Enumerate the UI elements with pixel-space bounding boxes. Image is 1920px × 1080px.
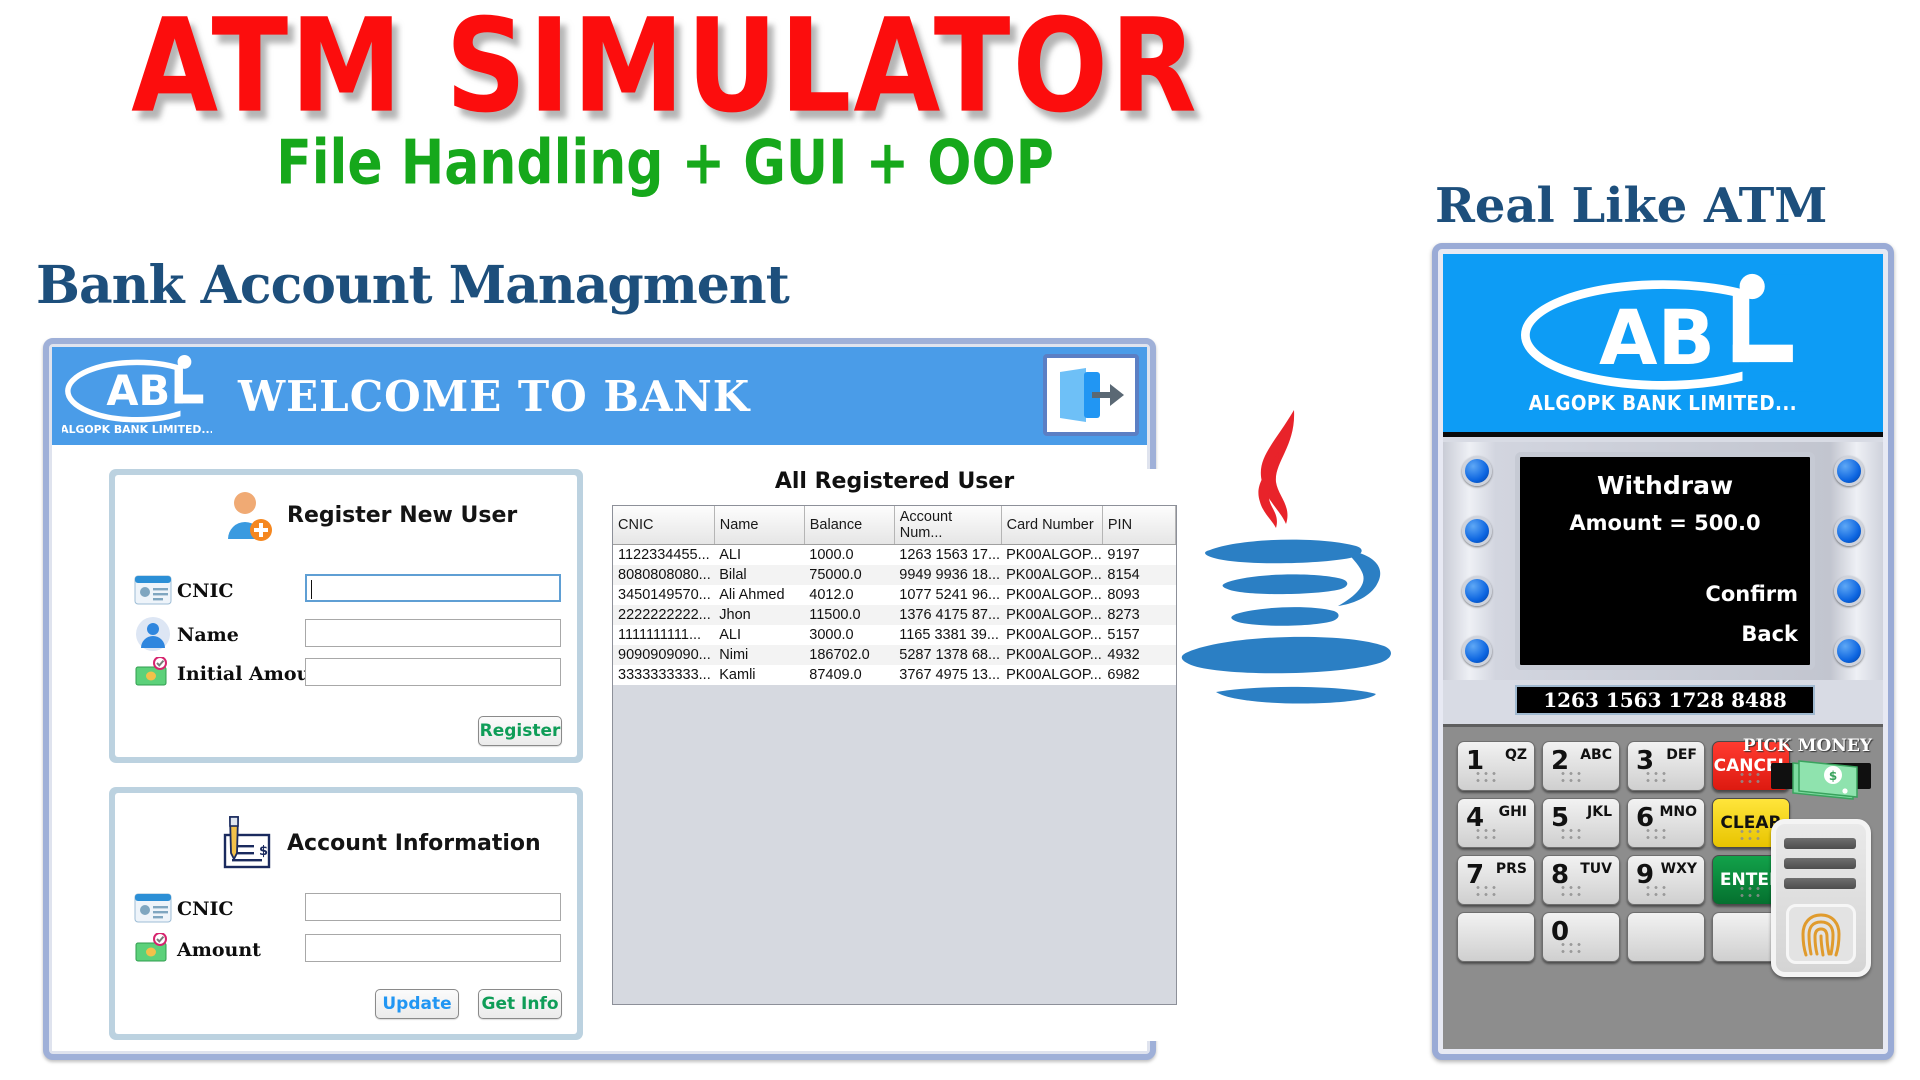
table-body: 1122334455...ALI1000.01263 1563 17...PK0… <box>613 545 1176 686</box>
keypad-letters: ABC <box>1580 747 1612 763</box>
table-row[interactable]: 3450149570...Ali Ahmed4012.01077 5241 96… <box>613 585 1176 605</box>
field-label-name: Name <box>177 624 239 646</box>
table-row[interactable]: 1111111111...ALI3000.01165 3381 39...PK0… <box>613 625 1176 645</box>
table-cell: 9949 9936 18... <box>894 565 1001 585</box>
atm-side-button-right-3[interactable] <box>1834 576 1864 606</box>
account-cnic-input[interactable] <box>305 893 561 921</box>
table-column-header-5[interactable]: PIN <box>1102 506 1175 545</box>
atm-side-button-right-2[interactable] <box>1834 516 1864 546</box>
table-cell: 8273 <box>1102 605 1175 625</box>
register-initial-amount-input[interactable] <box>305 658 561 686</box>
table-cell: 11500.0 <box>804 605 894 625</box>
account-panel-title: Account Information <box>287 831 541 856</box>
keypad-key-4[interactable]: 4GHI <box>1457 798 1535 848</box>
braille-dots <box>1738 771 1764 785</box>
braille-dots <box>1559 941 1585 955</box>
table-cell: 1111111111... <box>613 625 714 645</box>
cash-bills-icon[interactable]: $ <box>1771 759 1871 803</box>
braille-dots <box>1474 827 1500 841</box>
get-info-button[interactable]: Get Info <box>478 989 562 1019</box>
table-cell: 5157 <box>1102 625 1175 645</box>
table-cell: 1263 1563 17... <box>894 545 1001 566</box>
keypad-letters: WXY <box>1661 861 1697 877</box>
braille-dots <box>1559 827 1585 841</box>
account-amount-input[interactable] <box>305 934 561 962</box>
table-cell: 3000.0 <box>804 625 894 645</box>
keypad-key-5[interactable]: 5JKL <box>1542 798 1620 848</box>
atm-side-buttons-left <box>1457 456 1497 666</box>
table-cell: 3450149570... <box>613 585 714 605</box>
keypad-blank-key[interactable] <box>1627 912 1705 962</box>
cheque-icon: $ <box>213 813 275 873</box>
keypad-letters: PRS <box>1496 861 1527 877</box>
atm-brand-subtitle: ALGOPK BANK LIMITED... <box>1529 391 1797 415</box>
table-cell: Jhon <box>714 605 804 625</box>
atm-brand-panel: AB ALGOPK BANK LIMITED... <box>1443 254 1883 437</box>
bank-section-heading: Bank Account Managment <box>36 255 789 316</box>
registered-users-section: All Registered User CNICNameBalanceAccou… <box>612 469 1177 1041</box>
table-cell: 1122334455... <box>613 545 714 566</box>
bank-window-title: WELCOME TO BANK <box>238 372 750 421</box>
field-label-amount: Amount <box>177 939 261 961</box>
cash-dispenser[interactable] <box>1771 819 1871 977</box>
table-cell: 3767 4975 13... <box>894 665 1001 685</box>
atm-screen-zone: Withdraw Amount = 500.0 Confirm Back <box>1443 442 1883 680</box>
svg-text:$: $ <box>1829 769 1837 783</box>
braille-dots <box>1644 884 1670 898</box>
table-column-header-3[interactable]: Account Num... <box>894 506 1001 545</box>
table-column-header-4[interactable]: Card Number <box>1001 506 1102 545</box>
atm-keypad: 1QZ2ABC3DEFCANCEL4GHI5JKL6MNOCLEAR7PRS8T… <box>1457 741 1790 962</box>
table-cell: ALI <box>714 625 804 645</box>
atm-back-option[interactable]: Back <box>1741 622 1798 646</box>
svg-text:AB: AB <box>106 366 170 415</box>
braille-dots <box>1644 770 1670 784</box>
users-table-scroll[interactable]: CNICNameBalanceAccount Num...Card Number… <box>612 505 1177 1005</box>
atm-side-button-left-2[interactable] <box>1462 516 1492 546</box>
update-button[interactable]: Update <box>375 989 459 1019</box>
atm-section-heading: Real Like ATM <box>1435 178 1827 234</box>
id-card-icon <box>134 893 172 923</box>
table-cell: PK00ALGOP... <box>1001 565 1102 585</box>
braille-dots <box>1474 884 1500 898</box>
keypad-key-1[interactable]: 1QZ <box>1457 741 1535 791</box>
table-cell: PK00ALGOP... <box>1001 545 1102 566</box>
atm-side-button-left-3[interactable] <box>1462 576 1492 606</box>
bank-window-header: AB ALGOPK BANK LIMITED... WELCOME TO BAN… <box>52 347 1147 445</box>
table-cell: 6982 <box>1102 665 1175 685</box>
table-caption: All Registered User <box>612 469 1177 494</box>
hero-banner: ATM SIMULATOR File Handling + GUI + OOP <box>0 0 1330 215</box>
logout-icon[interactable] <box>1043 354 1139 436</box>
user-avatar-icon <box>136 617 170 651</box>
account-information-panel: $ Account Information <box>109 787 583 1040</box>
atm-card-number-display: 1263 1563 1728 8488 <box>1515 685 1815 715</box>
table-cell: 1165 3381 39... <box>894 625 1001 645</box>
table-cell: PK00ALGOP... <box>1001 665 1102 685</box>
pick-money-label: PICK MONEY <box>1743 736 1872 756</box>
table-cell: 8154 <box>1102 565 1175 585</box>
money-check-icon <box>133 657 173 689</box>
table-cell: 8080808080... <box>613 565 714 585</box>
atm-machine: AB ALGOPK BANK LIMITED... Withdraw Amoun… <box>1432 243 1894 1060</box>
keypad-letters: MNO <box>1659 804 1697 820</box>
hero-subtitle: File Handling + GUI + OOP <box>0 128 1330 199</box>
atm-side-button-right-1[interactable] <box>1834 456 1864 486</box>
svg-text:ALGOPK BANK LIMITED...: ALGOPK BANK LIMITED... <box>62 423 212 436</box>
abl-logo-icon: AB ALGOPK BANK LIMITED... <box>62 354 212 438</box>
java-coffee-cup-icon <box>1170 400 1400 740</box>
money-check-icon <box>133 933 173 965</box>
id-card-icon <box>134 575 172 605</box>
register-panel-title: Register New User <box>287 503 517 528</box>
table-column-header-1[interactable]: Name <box>714 506 804 545</box>
braille-dots <box>1474 770 1500 784</box>
keypad-key-0[interactable]: 0 <box>1542 912 1620 962</box>
table-row[interactable]: 1122334455...ALI1000.01263 1563 17...PK0… <box>613 545 1176 566</box>
register-cnic-input[interactable] <box>305 574 561 602</box>
atm-confirm-option[interactable]: Confirm <box>1705 582 1798 606</box>
keypad-key-3[interactable]: 3DEF <box>1627 741 1705 791</box>
atm-keypad-zone: 1QZ2ABC3DEFCANCEL4GHI5JKL6MNOCLEAR7PRS8T… <box>1443 724 1883 1049</box>
table-row[interactable]: 8080808080...Bilal75000.09949 9936 18...… <box>613 565 1176 585</box>
atm-side-buttons-right <box>1829 456 1869 666</box>
table-cell: 8093 <box>1102 585 1175 605</box>
keypad-key-9[interactable]: 9WXY <box>1627 855 1705 905</box>
keypad-letters: DEF <box>1666 747 1697 763</box>
keypad-letters: TUV <box>1580 861 1612 877</box>
bank-app-window: AB ALGOPK BANK LIMITED... WELCOME TO BAN… <box>43 338 1156 1060</box>
table-column-header-2[interactable]: Balance <box>804 506 894 545</box>
table-cell: PK00ALGOP... <box>1001 625 1102 645</box>
table-cell: 1000.0 <box>804 545 894 566</box>
register-name-input[interactable] <box>305 619 561 647</box>
braille-dots <box>1738 885 1764 899</box>
braille-dots <box>1559 884 1585 898</box>
svg-text:$: $ <box>259 844 268 859</box>
field-label-cnic: CNIC <box>177 580 234 602</box>
table-cell: 4012.0 <box>804 585 894 605</box>
table-cell: PK00ALGOP... <box>1001 645 1102 665</box>
table-row[interactable]: 9090909090...Nimi186702.05287 1378 68...… <box>613 645 1176 665</box>
table-cell: 2222222222... <box>613 605 714 625</box>
braille-dots <box>1738 828 1764 842</box>
table-cell: Bilal <box>714 565 804 585</box>
table-cell: 87409.0 <box>804 665 894 685</box>
register-button[interactable]: Register <box>478 716 562 746</box>
table-cell: PK00ALGOP... <box>1001 585 1102 605</box>
table-cell: 9090909090... <box>613 645 714 665</box>
keypad-key-2[interactable]: 2ABC <box>1542 741 1620 791</box>
table-cell: 5287 1378 68... <box>894 645 1001 665</box>
atm-screen-amount: Amount = 500.0 <box>1520 511 1810 535</box>
table-cell: 1376 4175 87... <box>894 605 1001 625</box>
fingerprint-icon[interactable] <box>1786 904 1856 964</box>
table-cell: 4932 <box>1102 645 1175 665</box>
add-user-icon <box>220 489 276 545</box>
table-row[interactable]: 2222222222...Jhon11500.01376 4175 87...P… <box>613 605 1176 625</box>
atm-side-button-left-4[interactable] <box>1462 636 1492 666</box>
hero-title: ATM SIMULATOR <box>0 2 1370 131</box>
keypad-letters: QZ <box>1505 747 1527 763</box>
text-caret <box>311 580 312 599</box>
keypad-key-6[interactable]: 6MNO <box>1627 798 1705 848</box>
keypad-key-7[interactable]: 7PRS <box>1457 855 1535 905</box>
table-cell: 9197 <box>1102 545 1175 566</box>
svg-text:AB: AB <box>1599 294 1715 382</box>
table-header-row: CNICNameBalanceAccount Num...Card Number… <box>613 506 1176 545</box>
abl-logo-icon: AB <box>1513 271 1813 397</box>
table-cell: 186702.0 <box>804 645 894 665</box>
field-label-cnic: CNIC <box>177 898 234 920</box>
table-cell: ALI <box>714 545 804 566</box>
table-row[interactable]: 3333333333...Kamli87409.03767 4975 13...… <box>613 665 1176 685</box>
table-cell: 75000.0 <box>804 565 894 585</box>
table-cell: 1077 5241 96... <box>894 585 1001 605</box>
atm-side-button-right-4[interactable] <box>1834 636 1864 666</box>
atm-screen: Withdraw Amount = 500.0 Confirm Back <box>1515 452 1815 670</box>
table-cell: 3333333333... <box>613 665 714 685</box>
users-table: CNICNameBalanceAccount Num...Card Number… <box>613 506 1176 685</box>
keypad-blank-key[interactable] <box>1457 912 1535 962</box>
atm-side-button-left-1[interactable] <box>1462 456 1492 486</box>
braille-dots <box>1559 770 1585 784</box>
keypad-letters: JKL <box>1587 804 1612 820</box>
table-cell: Kamli <box>714 665 804 685</box>
table-cell: PK00ALGOP... <box>1001 605 1102 625</box>
keypad-letters: GHI <box>1499 804 1527 820</box>
register-new-user-panel: Register New User CNIC <box>109 469 583 763</box>
braille-dots <box>1644 827 1670 841</box>
table-cell: Nimi <box>714 645 804 665</box>
table-column-header-0[interactable]: CNIC <box>613 506 714 545</box>
table-cell: Ali Ahmed <box>714 585 804 605</box>
keypad-key-8[interactable]: 8TUV <box>1542 855 1620 905</box>
atm-screen-title: Withdraw <box>1520 471 1810 500</box>
